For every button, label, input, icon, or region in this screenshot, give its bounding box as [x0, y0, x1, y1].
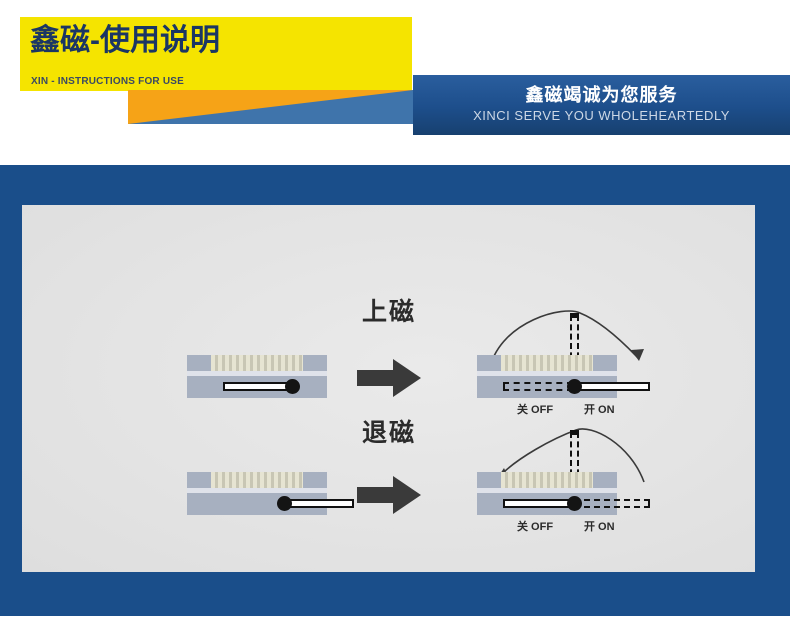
page-title-en: XIN - INSTRUCTIONS FOR USE [31, 76, 184, 87]
device-teeth [501, 355, 593, 371]
slogan-cn: 鑫磁竭诚为您服务 [413, 81, 790, 107]
device-teeth [211, 472, 303, 488]
diagram-panel: 上磁 [22, 205, 755, 572]
step-label-demagnetize: 退磁 [362, 413, 416, 449]
header-slogan-bar: 鑫磁竭诚为您服务 XINCI SERVE YOU WHOLEHEARTEDLY [413, 75, 790, 135]
device-teeth [211, 355, 303, 371]
right-arrow-icon [357, 475, 421, 515]
lever-bar-dashed-on [574, 499, 650, 508]
lever-bar-solid[interactable] [284, 499, 354, 508]
device-top-plate [477, 472, 617, 488]
lever-bar-solid-off[interactable] [503, 499, 573, 508]
diagram-row-magnetize: 上磁 [22, 240, 755, 400]
diagram-canvas: 上磁 [22, 205, 755, 572]
slogan-en: XINCI SERVE YOU WHOLEHEARTEDLY [413, 108, 790, 123]
device-top-plate [477, 355, 617, 371]
device-top-plate [187, 472, 327, 488]
page-header: 鑫磁-使用说明 XIN - INSTRUCTIONS FOR USE 鑫磁竭诚为… [0, 0, 790, 165]
step-label-magnetize: 上磁 [362, 292, 416, 328]
label-off: 关 OFF [517, 518, 553, 534]
lever-knob[interactable] [277, 496, 292, 511]
device-top-plate [187, 355, 327, 371]
page-title-cn: 鑫磁-使用说明 [30, 22, 220, 60]
device-teeth [501, 472, 593, 488]
diagram-row-demagnetize: 退磁 [22, 385, 755, 545]
pivot-knob[interactable] [567, 496, 582, 511]
label-on: 开 ON [584, 518, 615, 534]
instruction-page: 鑫磁-使用说明 XIN - INSTRUCTIONS FOR USE 鑫磁竭诚为… [0, 0, 790, 629]
